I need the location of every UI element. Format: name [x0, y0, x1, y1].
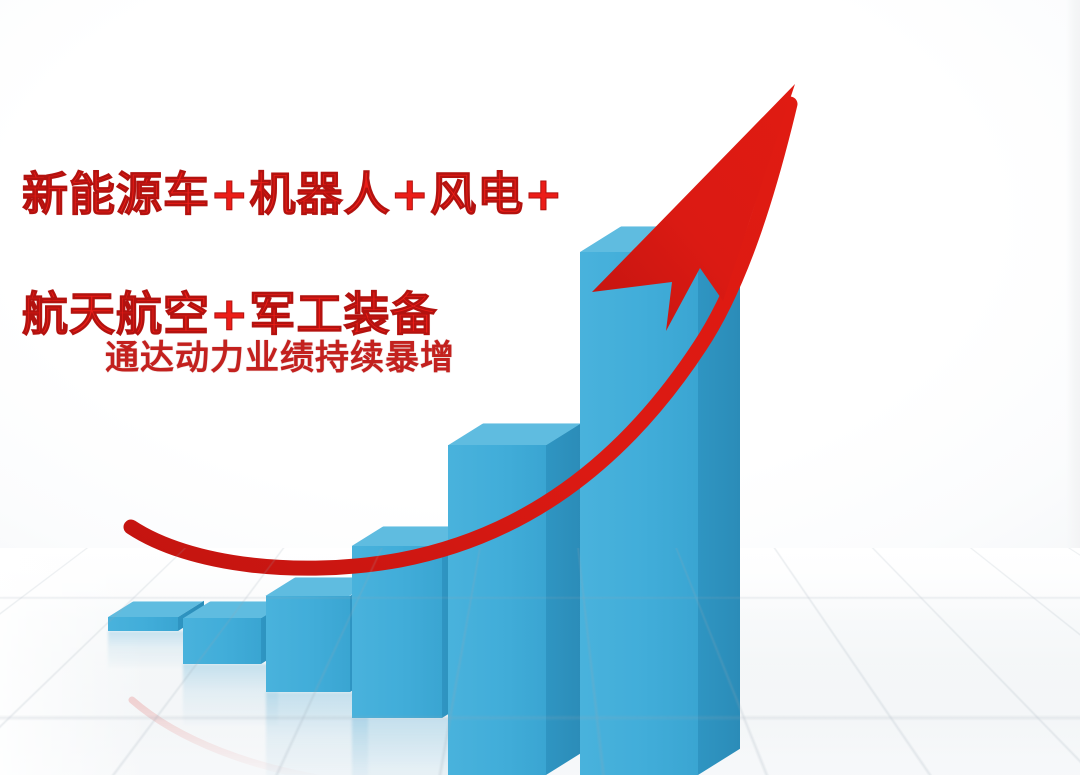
chart-canvas: 新能源车+机器人+风电+ 航天航空+军工装备 通达动力业绩持续暴增 — [0, 0, 1080, 775]
headline-line-2: 航天航空+军工装备 — [22, 287, 438, 341]
subtitle-text: 通达动力业绩持续暴增 — [105, 336, 455, 380]
headline-text: 新能源车+机器人+风电+ 航天航空+军工装备 — [22, 104, 712, 344]
headline-line-1: 新能源车+机器人+风电+ — [22, 167, 564, 221]
